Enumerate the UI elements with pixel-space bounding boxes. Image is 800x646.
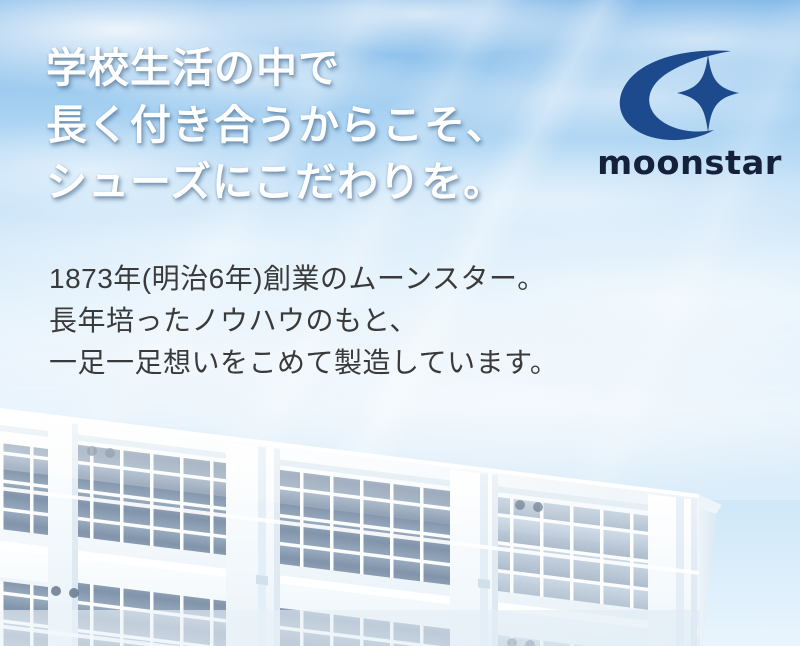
headline: 学校生活の中で 長く付き合うからこそ、 シューズにこだわりを。 [46, 40, 508, 211]
moonstar-brand-banner: 学校生活の中で 長く付き合うからこそ、 シューズにこだわりを。 1873年(明治… [0, 0, 800, 646]
moonstar-wordmark: moonstar [590, 146, 789, 179]
headline-line-3: シューズにこだわりを。 [46, 154, 508, 211]
body-line-2: 長年培ったノウハウのもと、 [49, 300, 558, 342]
school-building-photo [0, 395, 800, 646]
headline-line-2: 長く付き合うからこそ、 [46, 97, 508, 154]
body-line-3: 一足一足想いをこめて製造しています。 [49, 342, 558, 384]
headline-line-1: 学校生活の中で [46, 40, 508, 97]
moonstar-logo: moonstar [592, 48, 787, 180]
body-line-1: 1873年(明治6年)創業のムーンスター。 [49, 258, 558, 300]
crescent-moon-and-star-icon [615, 48, 765, 144]
school-building-illustration [0, 395, 800, 646]
body-copy: 1873年(明治6年)創業のムーンスター。 長年培ったノウハウのもと、 一足一足… [49, 258, 558, 384]
building-facade [0, 408, 800, 646]
